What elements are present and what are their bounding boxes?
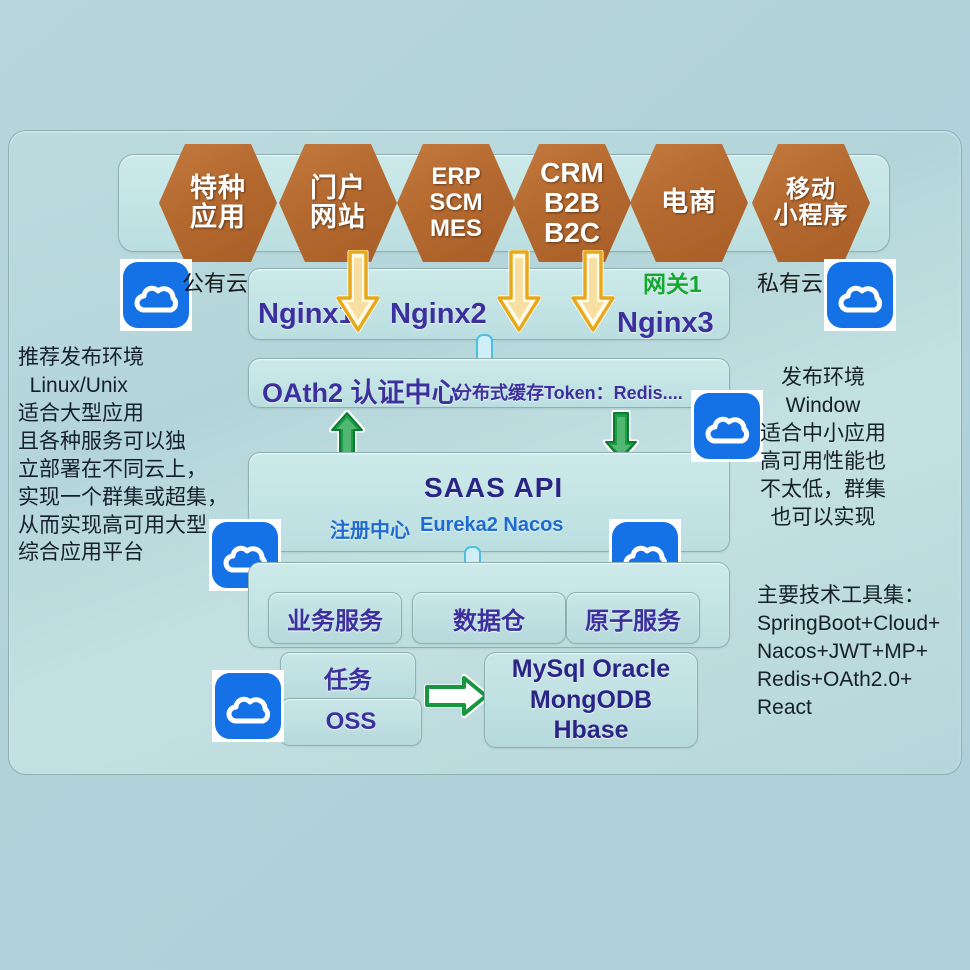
database-line1: MySql Oracle — [512, 654, 670, 685]
right-note: 发布环境 Window 适合中小应用 高可用性能也 不太低，群集 也可以实现 — [760, 364, 886, 532]
app-hexagon-portal-line1: 门户 — [310, 174, 366, 203]
token-cache-label: 分布式缓存Token：Redis.... — [454, 379, 683, 405]
down-arrow-yellow-2 — [497, 250, 541, 334]
registry-label: 注册中心 — [330, 514, 410, 543]
down-arrow-yellow-1 — [336, 250, 380, 334]
app-hexagon-erp-line1: ERP — [429, 164, 482, 190]
tech-stack-note: 主要技术工具集： SpringBoot+Cloud+ Nacos+JWT+MP+… — [757, 582, 940, 722]
database-line2: MongODB — [512, 685, 670, 716]
app-hexagon-crm-line3: B2C — [540, 218, 604, 248]
service-box-business[interactable]: 业务服务 — [268, 592, 402, 644]
app-hexagon-mobile-line1: 移动 — [774, 177, 849, 203]
service-warehouse-label: 数据仓 — [453, 601, 525, 636]
app-hexagon-erp-line3: MES — [429, 216, 482, 242]
private-cloud-label: 私有云 — [757, 266, 823, 298]
gateway1-label: 网关1 — [643, 265, 702, 299]
app-hexagon-crm-line2: B2B — [540, 188, 604, 218]
app-hexagon-special-line1: 特种 — [190, 174, 246, 203]
service-box-warehouse[interactable]: 数据仓 — [412, 592, 566, 644]
left-note: 推荐发布环境 Linux/Unix 适合大型应用 且各种服务可以独 立部署在不同… — [18, 344, 228, 567]
registry-items: Eureka2 Nacos — [420, 514, 563, 537]
app-hexagon-special-line2: 应用 — [190, 203, 246, 232]
public-cloud-label: 公有云 — [182, 266, 248, 298]
cloud-icon-bottom-left — [212, 670, 284, 742]
oauth2-title[interactable]: OAth2 认证中心 — [262, 371, 459, 410]
app-hexagon-ecommerce-line1: 电商 — [661, 188, 717, 217]
app-hexagon-portal-line2: 网站 — [310, 203, 366, 232]
nginx2-label[interactable]: Nginx2 — [390, 298, 487, 331]
down-arrow-yellow-3 — [571, 250, 615, 334]
private-cloud-icon — [824, 259, 896, 331]
task-label: 任务 — [324, 660, 372, 695]
cloud-icon-auth-right — [691, 390, 763, 462]
task-box[interactable]: 任务 — [280, 652, 416, 702]
oss-label: OSS — [326, 708, 377, 736]
app-hexagon-crm-line1: CRM — [540, 158, 604, 188]
service-atomic-label: 原子服务 — [585, 601, 681, 636]
right-arrow-green-db — [424, 673, 490, 719]
saas-api-title[interactable]: SAAS API — [424, 472, 563, 504]
database-labels: MySql Oracle MongODB Hbase — [512, 654, 670, 746]
database-line3: Hbase — [512, 715, 670, 746]
database-box[interactable]: MySql Oracle MongODB Hbase — [484, 652, 698, 748]
app-hexagon-mobile-line2: 小程序 — [774, 203, 849, 229]
service-box-atomic[interactable]: 原子服务 — [566, 592, 700, 644]
app-hexagon-erp-line2: SCM — [429, 190, 482, 216]
service-business-label: 业务服务 — [287, 601, 383, 636]
oss-box[interactable]: OSS — [280, 698, 422, 746]
nginx3-label[interactable]: Nginx3 — [617, 307, 714, 340]
diagram-canvas: 特种 应用 门户 网站 ERP SCM MES CRM B2B B2C 电商 移… — [0, 0, 970, 970]
